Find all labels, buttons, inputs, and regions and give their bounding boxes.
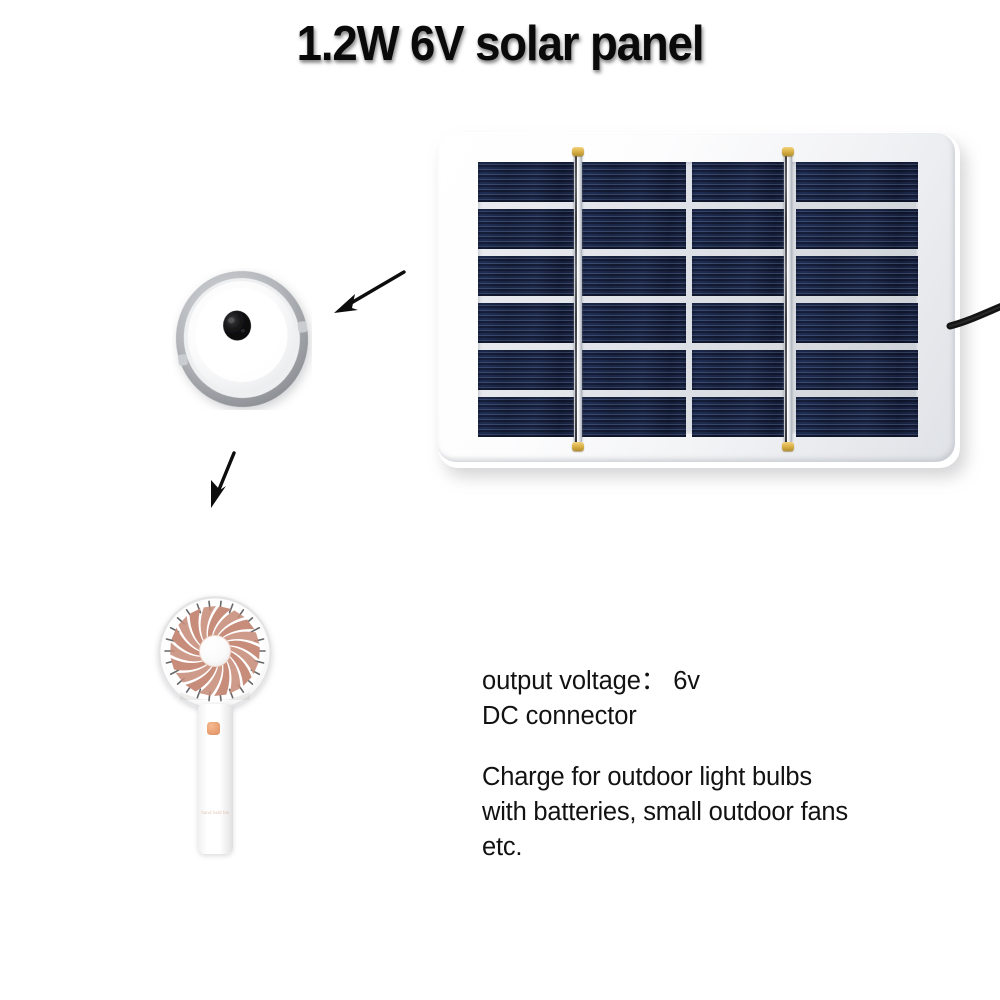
fan-handle: hand held fan	[198, 704, 233, 854]
solar-cell	[478, 256, 576, 296]
fan-power-button[interactable]	[207, 722, 220, 735]
solar-cell	[692, 350, 790, 390]
solar-cell	[796, 209, 918, 249]
solar-cell-row	[478, 350, 918, 390]
output-voltage-label: output voltage：	[482, 667, 666, 695]
lamp-tab-left	[178, 354, 188, 366]
solar-cell	[692, 256, 790, 296]
fan-head	[158, 596, 272, 710]
product-infographic: 1.2W 6V solar panel	[0, 0, 1000, 1000]
solar-cell	[796, 397, 918, 437]
solar-cell	[478, 162, 576, 202]
spec-text-block: output voltage： 6v DC connector Charge f…	[482, 664, 962, 865]
solar-cell	[796, 350, 918, 390]
solar-cell	[582, 397, 686, 437]
solar-cell	[796, 162, 918, 202]
solar-cell	[582, 303, 686, 343]
busbar-right	[784, 156, 792, 442]
dome-light-bulb	[172, 268, 312, 410]
description-line-3: etc.	[482, 830, 962, 865]
solar-cell	[796, 256, 918, 296]
solar-cell	[478, 350, 576, 390]
solar-cell-row	[478, 162, 918, 202]
solar-cell-row	[478, 397, 918, 437]
solar-panel-frame	[437, 132, 955, 462]
solar-cell-row	[478, 303, 918, 343]
output-voltage-line: output voltage： 6v	[482, 664, 962, 699]
solar-cell	[692, 162, 790, 202]
output-voltage-value: 6v	[673, 667, 700, 695]
solar-cell	[582, 350, 686, 390]
solar-cell	[582, 209, 686, 249]
solder-tab-top-right	[782, 147, 794, 156]
connector-line: DC connector	[482, 699, 962, 734]
solar-cell	[582, 162, 686, 202]
description-line-2: with batteries, small outdoor fans	[482, 795, 962, 830]
spec-spacer	[482, 734, 962, 760]
output-cable	[948, 290, 1000, 334]
solder-tab-bottom-left	[572, 442, 584, 451]
solar-cell	[796, 303, 918, 343]
busbar-left	[574, 156, 582, 442]
solar-cell	[692, 209, 790, 249]
busbar-wire	[785, 156, 787, 442]
solar-panel	[432, 126, 962, 468]
arrow-pointing-to-lamp	[322, 266, 408, 318]
solar-cell	[478, 209, 576, 249]
solder-tab-bottom-right	[782, 442, 794, 451]
solar-cell	[692, 397, 790, 437]
description-line-1: Charge for outdoor light bulbs	[482, 760, 962, 795]
page-title: 1.2W 6V solar panel	[35, 16, 965, 72]
arrow-pointing-to-fan	[200, 448, 248, 512]
solar-panel-laminate	[478, 162, 918, 434]
handheld-fan: hand held fan	[140, 592, 300, 864]
solar-cell	[478, 303, 576, 343]
solar-cell	[478, 397, 576, 437]
busbar-wire	[575, 156, 577, 442]
solar-cell-row	[478, 209, 918, 249]
fan-brand-text: hand held fan	[198, 810, 233, 816]
solder-tab-top-left	[572, 147, 584, 156]
solar-cell-row	[478, 256, 918, 296]
solar-cell	[692, 303, 790, 343]
lamp-tab-right	[297, 321, 307, 333]
solar-cell	[582, 256, 686, 296]
fan-blades	[158, 596, 272, 710]
